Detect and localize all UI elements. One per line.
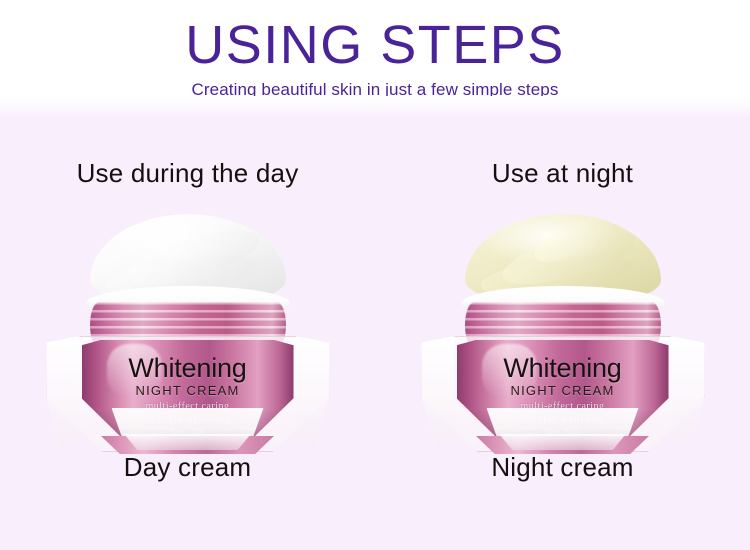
jar-shell-facet-right bbox=[296, 336, 330, 448]
jar-foot-clear bbox=[497, 434, 629, 450]
day-cream-jar-image: Whitening NIGHT CREAM multi-effect carin… bbox=[38, 208, 338, 458]
using-steps-poster: USING STEPS Creating beautiful skin in j… bbox=[0, 0, 750, 550]
jar-body-highlight bbox=[482, 344, 537, 398]
step-day-heading: Use during the day bbox=[77, 112, 299, 188]
jar-shell-facet-right bbox=[671, 336, 705, 448]
night-cream-jar-image: Whitening NIGHT CREAM multi-effect carin… bbox=[413, 208, 713, 458]
jar-night: Whitening NIGHT CREAM multi-effect carin… bbox=[413, 208, 713, 458]
steps-container: Use during the day bbox=[0, 112, 750, 550]
step-night-heading: Use at night bbox=[492, 112, 633, 188]
jar-body-highlight bbox=[107, 344, 162, 398]
jar-foot-clear bbox=[122, 434, 254, 450]
page-title: USING STEPS bbox=[0, 0, 750, 74]
step-night-caption: Night cream bbox=[375, 452, 750, 482]
step-day: Use during the day bbox=[0, 112, 375, 550]
jar-shell-facet-left bbox=[421, 336, 455, 448]
step-night: Use at night bbox=[375, 112, 750, 550]
jar-shell-facet-left bbox=[46, 336, 80, 448]
step-day-caption: Day cream bbox=[0, 452, 375, 482]
jar-day: Whitening NIGHT CREAM multi-effect carin… bbox=[38, 208, 338, 458]
